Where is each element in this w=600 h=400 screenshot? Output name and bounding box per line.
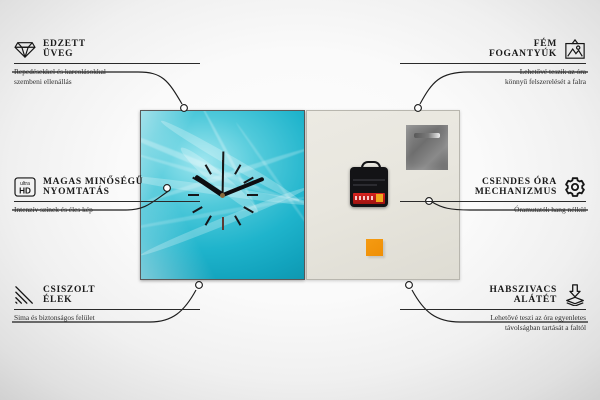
callout-title-line1: FÉM [534,39,557,49]
callout-title-line1: CSISZOLT [43,285,95,295]
battery [353,193,385,204]
callout-desc-line2: könnyű felszerelését a falra [400,77,586,87]
clock-center-pin [220,193,225,198]
callout-title-line1: MAGAS MINŐSÉGŰ [43,177,143,187]
callout-foam-pad[interactable]: HABSZIVACS ALÁTÉT Lehetővé teszi az óra … [400,284,586,333]
divider [14,309,200,310]
clock-movement [350,167,388,207]
diamond-icon [14,38,36,60]
ultra-hd-icon: ultra HD [14,176,36,198]
polished-edge-icon [14,284,36,306]
callout-desc-line1: Lehetővé teszik az óra [400,67,586,77]
foam-pad [366,239,383,256]
callout-title-line1: HABSZIVACS [489,285,557,295]
gear-icon [564,176,586,198]
callout-tempered-glass[interactable]: EDZETT ÜVEG Repedésekkel és karcolásokka… [14,38,200,87]
callout-title-line2: ÉLEK [43,295,72,305]
picture-hanger-icon [564,38,586,60]
callout-title-line1: EDZETT [43,39,86,49]
divider [14,201,200,202]
callout-polished-edges[interactable]: CSISZOLT ÉLEK Sima és biztonságos felüle… [14,284,200,323]
svg-text:HD: HD [19,186,31,195]
callout-title-line2: NYOMTATÁS [43,187,110,197]
callout-title-line1: CSENDES ÓRA [482,177,557,187]
callout-metal-handles[interactable]: FÉM FOGANTYÚK Lehetővé teszik az óra kön… [400,38,586,87]
callout-desc-line1: Intenzív színek és éles kép [14,205,200,215]
callout-high-quality-print[interactable]: ultra HD MAGAS MINŐSÉGŰ NYOMTATÁS Intenz… [14,176,200,215]
callout-desc-line1: Sima és biztonságos felület [14,313,200,323]
callout-title-line2: FOGANTYÚK [489,49,557,59]
metal-hanger [406,125,448,170]
callout-desc-line1: Óramutatók hang nélkül [400,205,586,215]
callout-silent-mechanism[interactable]: CSENDES ÓRA MECHANIZMUS Óramutatók hang … [400,176,586,215]
press-layers-icon [564,284,586,306]
callout-title-line2: ÜVEG [43,49,73,59]
infographic-stage: EDZETT ÜVEG Repedésekkel és karcolásokka… [0,0,600,400]
divider [400,309,586,310]
divider [14,63,200,64]
callout-desc-line2: távolságban tartását a faltól [400,323,586,333]
divider [400,201,586,202]
callout-title-line2: ALÁTÉT [514,295,557,305]
callout-desc-line1: Lehetővé teszi az óra egyenletes [400,313,586,323]
callout-desc-line2: szembeni ellenállás [14,77,200,87]
callout-title-line2: MECHANIZMUS [475,187,557,197]
callout-desc-line1: Repedésekkel és karcolásokkal [14,67,200,77]
divider [400,63,586,64]
